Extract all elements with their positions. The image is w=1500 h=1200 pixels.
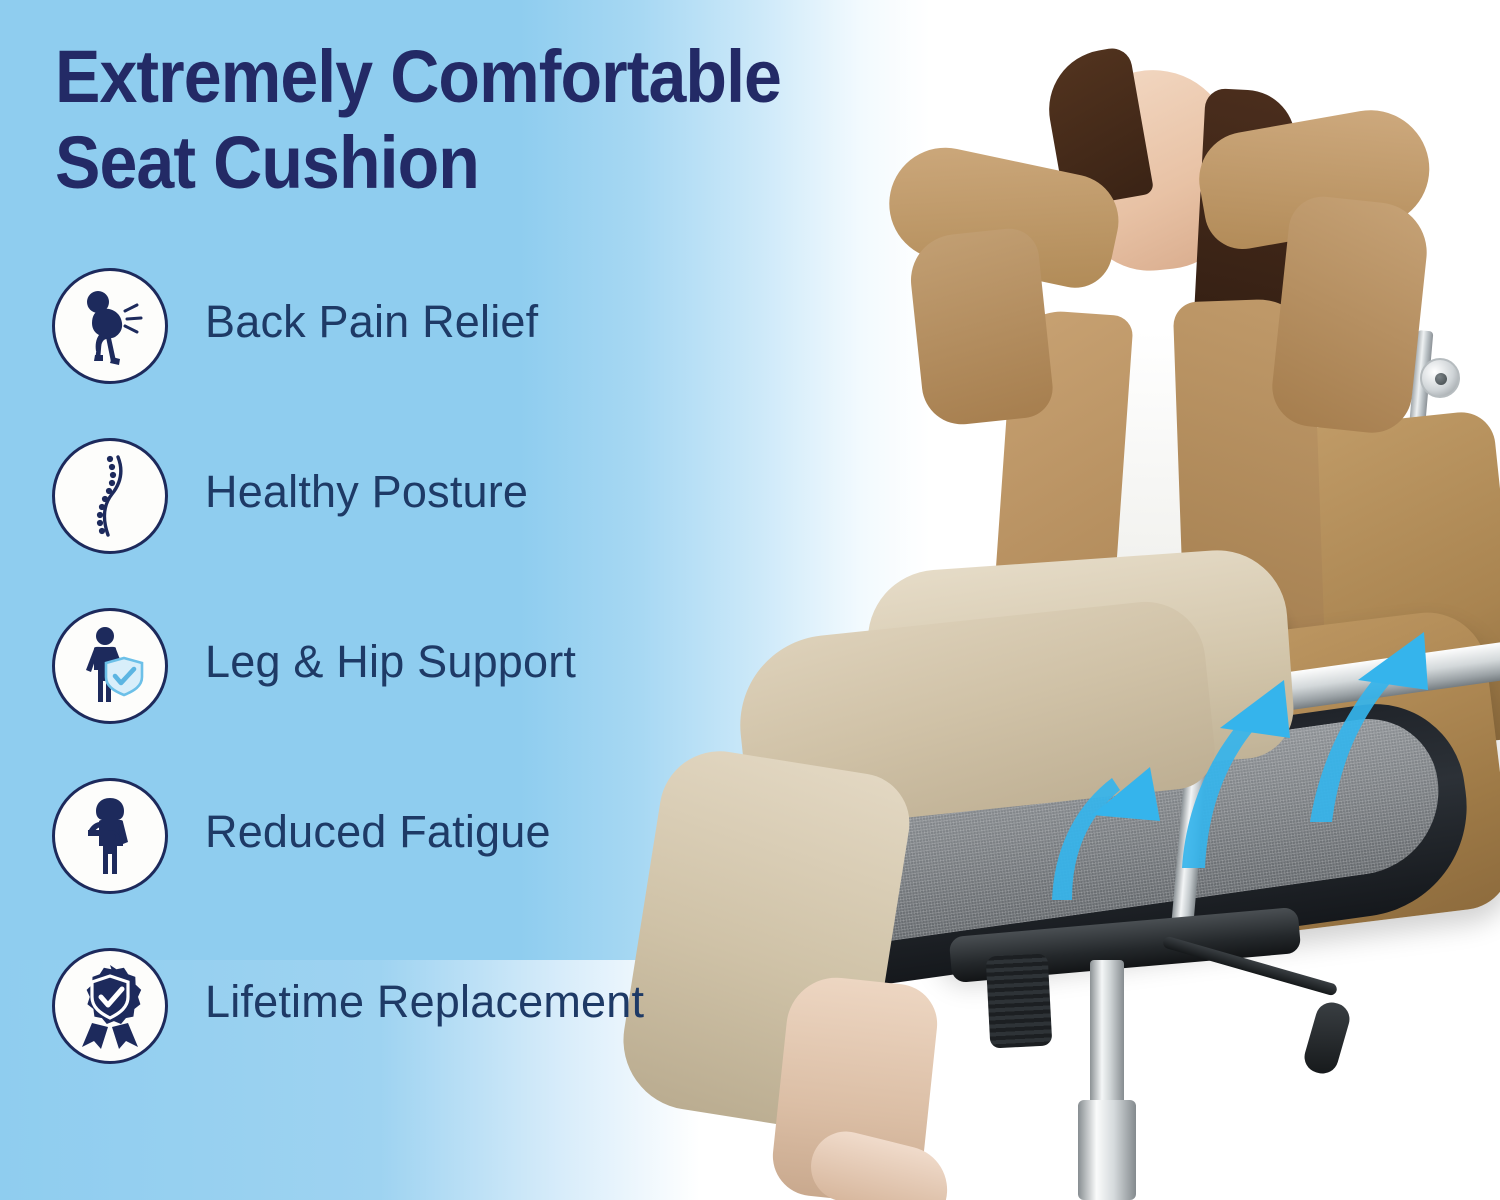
feature-item-lifetime-replacement[interactable]: Lifetime Replacement [52, 948, 732, 1118]
feature-label: Reduced Fatigue [205, 806, 551, 858]
person-holding-back-icon [52, 778, 168, 894]
feature-list: Back Pain Relief [52, 268, 732, 1118]
feature-item-leg-hip-support[interactable]: Leg & Hip Support [52, 608, 732, 778]
feature-label: Back Pain Relief [205, 296, 538, 348]
person-shield-check-icon [52, 608, 168, 724]
chair-height-knob [986, 953, 1053, 1048]
page-title: Extremely Comfortable Seat Cushion [55, 34, 781, 206]
right-arm-lower [1268, 193, 1431, 436]
feature-item-reduced-fatigue[interactable]: Reduced Fatigue [52, 778, 732, 948]
feature-label: Leg & Hip Support [205, 636, 576, 688]
infographic-canvas: Extremely Comfortable Seat Cushion [0, 0, 1500, 1200]
chair-cylinder-lower [1078, 1100, 1136, 1200]
back-pain-person-icon [52, 268, 168, 384]
feature-label: Lifetime Replacement [205, 976, 644, 1028]
feature-item-healthy-posture[interactable]: Healthy Posture [52, 438, 732, 608]
chair-gas-cylinder [1090, 960, 1124, 1110]
feature-label: Healthy Posture [205, 466, 528, 518]
spine-curve-icon [52, 438, 168, 554]
feature-item-back-pain-relief[interactable]: Back Pain Relief [52, 268, 732, 438]
award-badge-shield-icon [52, 948, 168, 1064]
left-arm-lower [906, 226, 1055, 429]
